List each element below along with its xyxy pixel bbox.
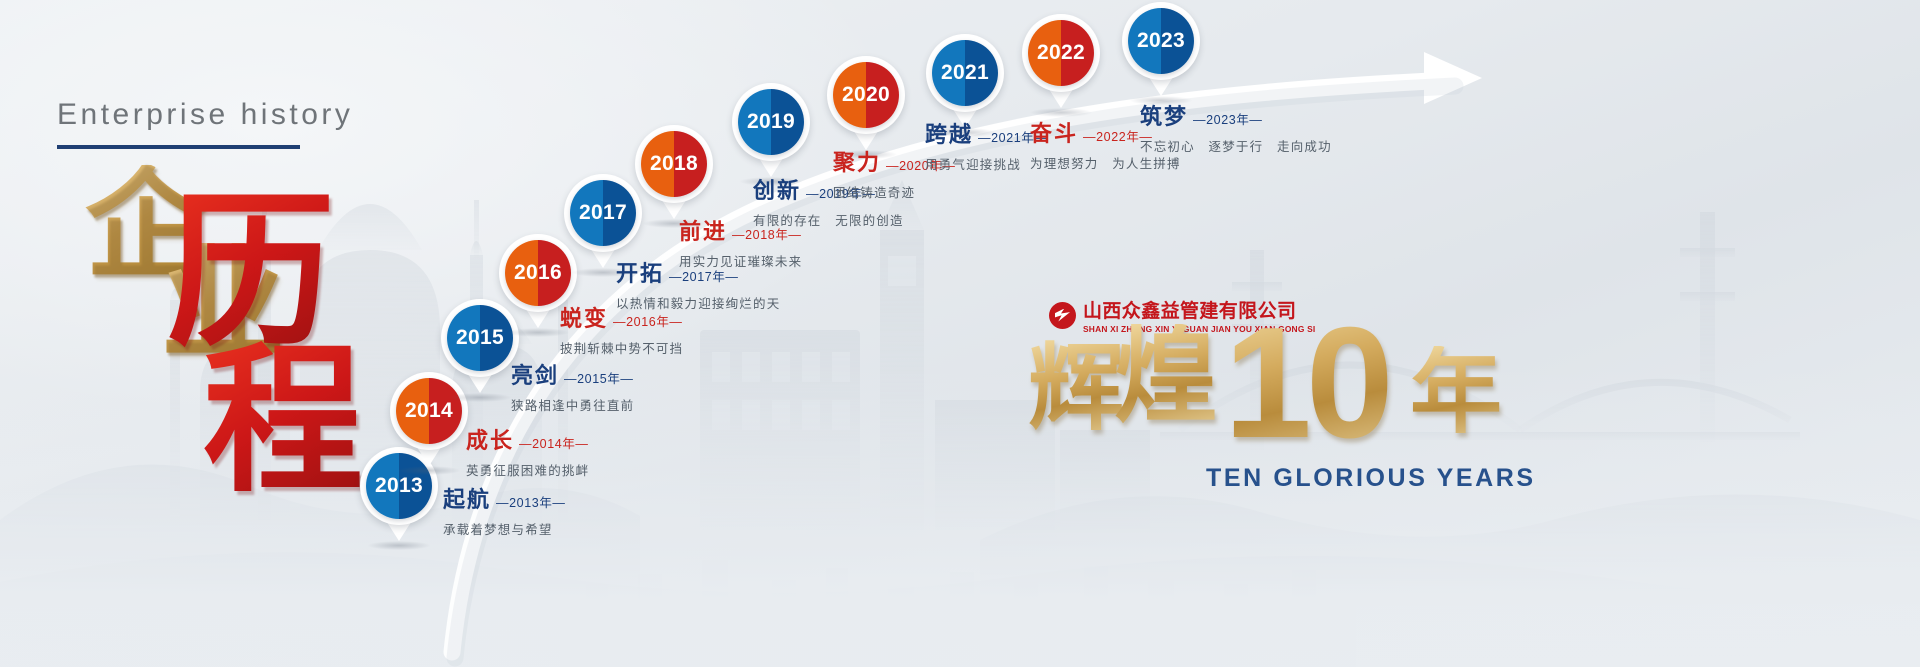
timeline-poster: Enterprise history 企 业 历 程 2013201420152… xyxy=(0,0,1920,667)
milestone-year-mark: —2016年— xyxy=(613,311,683,330)
milestone-title: 创新 xyxy=(753,173,801,205)
pin-year-label: 2015 xyxy=(447,305,513,371)
milestone-subtitle: 英勇征服困难的挑衅 xyxy=(466,460,589,479)
pin-year-label: 2017 xyxy=(570,180,636,246)
milestone-subtitle: 狭路相逢中勇往直前 xyxy=(511,395,634,414)
milestone-pin-2023[interactable]: 2023 xyxy=(1128,8,1194,96)
anniv-char-hui: 辉 xyxy=(1028,340,1124,436)
pin-shadow xyxy=(368,541,430,550)
pin-year-label: 2018 xyxy=(641,131,707,197)
milestone-title: 蜕变 xyxy=(560,301,608,333)
milestone-title: 起航 xyxy=(443,482,491,514)
milestone-title: 成长 xyxy=(466,423,514,455)
milestone-subtitle: 承载着梦想与希望 xyxy=(443,519,566,538)
milestone-year-mark: —2013年— xyxy=(496,492,566,511)
milestone-title: 奋斗 xyxy=(1030,116,1078,148)
page-title: Enterprise history xyxy=(57,98,387,149)
anniv-number-10: 10 xyxy=(1224,304,1388,462)
pin-year-label: 2020 xyxy=(833,62,899,128)
anniv-char-nian: 年 xyxy=(1410,346,1502,438)
milestone-subtitle: 以热情和毅力迎接绚烂的天 xyxy=(616,293,780,312)
milestone-pin-2020[interactable]: 2020 xyxy=(833,62,899,150)
milestone-year-mark: —2015年— xyxy=(564,368,634,387)
milestone-pin-2022[interactable]: 2022 xyxy=(1028,20,1094,108)
pin-year-label: 2023 xyxy=(1128,8,1194,74)
milestone-pin-2021[interactable]: 2021 xyxy=(932,40,998,128)
milestone-pin-2017[interactable]: 2017 xyxy=(570,180,636,268)
pin-shadow xyxy=(449,393,511,402)
anniv-char-huang: 煌 xyxy=(1114,324,1218,428)
milestone-label-2015: 亮剑—2015年—狭路相逢中勇往直前 xyxy=(511,358,634,414)
milestone-pin-2019[interactable]: 2019 xyxy=(738,89,804,177)
milestone-year-mark: —2014年— xyxy=(519,433,589,452)
milestone-subtitle: 不忘初心 逐梦于行 走向成功 xyxy=(1140,136,1332,155)
milestone-subtitle: 团结铸造奇迹 xyxy=(833,182,956,201)
milestone-pin-2018[interactable]: 2018 xyxy=(641,131,707,219)
title-divider xyxy=(57,145,300,149)
milestone-label-2013: 起航—2013年—承载着梦想与希望 xyxy=(443,482,566,538)
milestone-title: 聚力 xyxy=(833,145,881,177)
anniversary-english: TEN GLORIOUS YEARS xyxy=(1206,464,1536,493)
milestone-label-2014: 成长—2014年—英勇征服困难的挑衅 xyxy=(466,423,589,479)
pin-shadow xyxy=(398,466,460,475)
pin-year-label: 2019 xyxy=(738,89,804,155)
milestone-title: 跨越 xyxy=(925,117,973,149)
milestone-year-mark: —2023年— xyxy=(1193,109,1263,128)
milestone-title: 开拓 xyxy=(616,256,664,288)
milestone-label-2023: 筑梦—2023年—不忘初心 逐梦于行 走向成功 xyxy=(1140,99,1332,155)
anniversary-lockup: 辉 煌 10 年 TEN GLORIOUS YEARS xyxy=(1028,316,1548,506)
milestone-subtitle: 用实力见证璀璨未来 xyxy=(679,251,802,270)
milestone-title: 前进 xyxy=(679,214,727,246)
pin-year-label: 2021 xyxy=(932,40,998,106)
milestone-subtitle: 有限的存在 无限的创造 xyxy=(753,210,904,229)
milestone-pin-2015[interactable]: 2015 xyxy=(447,305,513,393)
milestone-title: 筑梦 xyxy=(1140,99,1188,131)
title-char-cheng: 程 xyxy=(203,340,363,500)
pin-year-label: 2016 xyxy=(505,240,571,306)
english-title: Enterprise history xyxy=(57,98,387,132)
pin-year-label: 2022 xyxy=(1028,20,1094,86)
milestone-title: 亮剑 xyxy=(511,358,559,390)
milestone-subtitle: 为理想努力 为人生拼搏 xyxy=(1030,153,1181,172)
milestone-subtitle: 披荆斩棘中势不可挡 xyxy=(560,338,683,357)
